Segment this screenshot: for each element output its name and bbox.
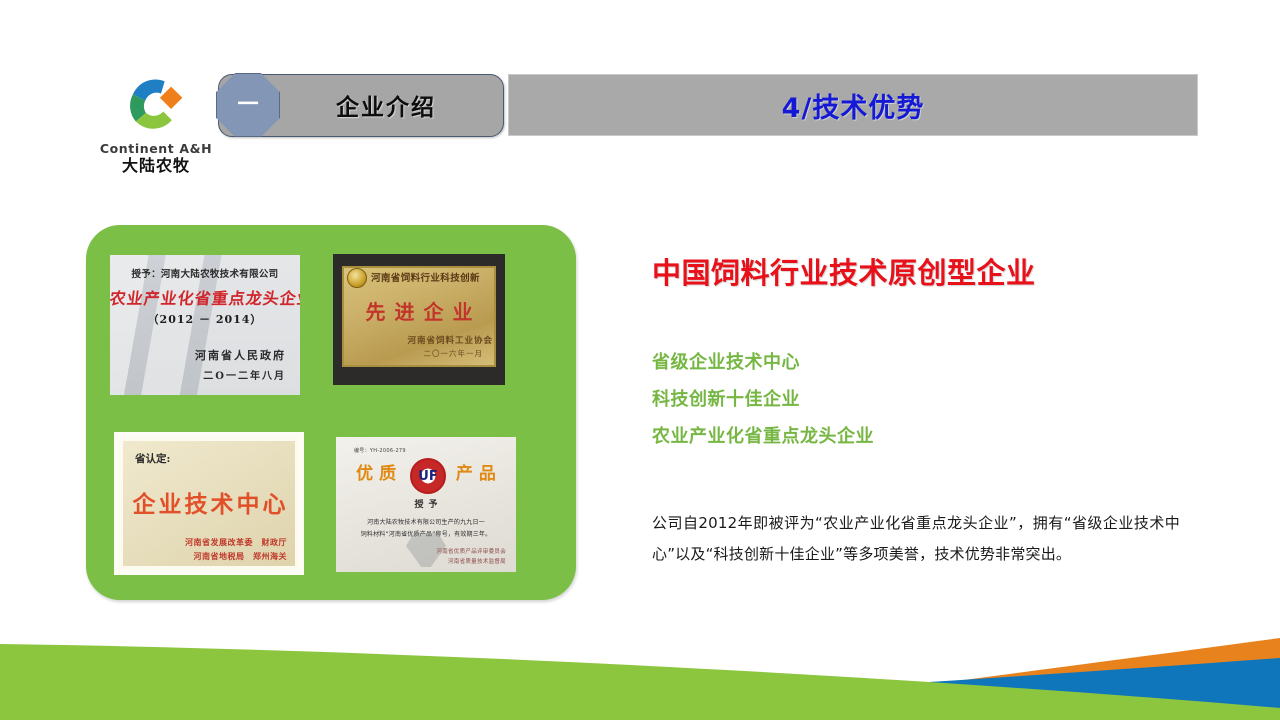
company-logo: Continent A&H 大陆农牧 (96, 74, 216, 175)
section-number-badge-text: 一 (238, 94, 259, 115)
certificate-quality-product: 编号：YH-2006-279 优质 产品 UF 授予 河南大陆农牧技术有限公司生… (336, 437, 516, 572)
certificate-4-code: 编号：YH-2006-279 (354, 447, 406, 454)
section-number-badge: 一 (216, 73, 280, 137)
certificate-4-title-right: 产品 (456, 464, 502, 484)
slide-canvas: Continent A&H 大陆农牧 企业介绍 一 4/技术优势 授予：河南大陆… (0, 0, 1280, 720)
certificate-4-award: 授予 (336, 497, 516, 510)
certificate-1-line-4: 河南省人民政府 (110, 347, 300, 363)
certificate-enterprise-tech-center: 省认定: 企业技术中心 河南省发展改革委 财政厅 河南省地税局 郑州海关 (114, 432, 304, 575)
quality-seal-text: UF (418, 469, 437, 484)
certificate-1-line-2: 农业产业化省重点龙头企业 (110, 285, 300, 309)
certificate-1-line-3: （2012 － 2014） (110, 311, 300, 327)
certificate-2-line-4: 二〇一六年一月 (333, 348, 483, 359)
certificate-3-line-3: 河南省发展改革委 财政厅 (119, 537, 287, 548)
bullet-item: 省级企业技术中心 (652, 352, 1192, 374)
certificate-4-title-left: 优质 (356, 464, 402, 484)
certificate-4-sign-2: 河南省质量技术监督局 (448, 557, 506, 565)
logo-english-text: Continent A&H (96, 142, 216, 156)
slide-title: 4/技术优势 (782, 86, 925, 125)
headline: 中国饲料行业技术原创型企业 (652, 250, 1192, 292)
certificate-4-body-1: 河南大陆农牧技术有限公司生产的九九日一 (348, 517, 504, 526)
certificate-advanced-enterprise: 河南省饲料行业科技创新 先进企业 河南省饲料工业协会 二〇一六年一月 (333, 254, 505, 385)
certificate-leading-enterprise: 授予：河南大陆农牧技术有限公司 农业产业化省重点龙头企业 （2012 － 201… (110, 255, 300, 395)
certificate-1-line-5: 二O一二年八月 (110, 367, 300, 382)
body-paragraph: 公司自2012年即被评为“农业产业化省重点龙头企业”，拥有“省级企业技术中心”以… (652, 508, 1180, 570)
bottom-decoration (0, 580, 1280, 720)
logo-chinese-text: 大陆农牧 (96, 157, 216, 175)
bullet-list: 省级企业技术中心 科技创新十佳企业 农业产业化省重点龙头企业 (652, 352, 1192, 463)
association-emblem-icon (347, 268, 367, 288)
quality-seal-icon: UF (410, 458, 446, 494)
certificate-3-line-4: 河南省地税局 郑州海关 (119, 551, 287, 562)
certificate-2-line-3: 河南省饲料工业协会 (333, 334, 493, 346)
certificate-2-line-1: 河南省饲料行业科技创新 (371, 270, 480, 284)
certificate-2-line-2: 先进企业 (333, 296, 505, 325)
slide-title-bar: 4/技术优势 (508, 74, 1198, 136)
certificate-1-line-1: 授予：河南大陆农牧技术有限公司 (110, 266, 300, 280)
certificate-4-sign-1: 河南省优质产品评审委员会 (436, 547, 506, 555)
certificate-3-line-1: 省认定: (135, 451, 170, 466)
continent-c-logo-icon (120, 74, 192, 136)
bullet-item: 农业产业化省重点龙头企业 (652, 426, 1192, 448)
bullet-item: 科技创新十佳企业 (652, 389, 1192, 411)
certificate-3-line-2: 企业技术中心 (119, 485, 299, 519)
